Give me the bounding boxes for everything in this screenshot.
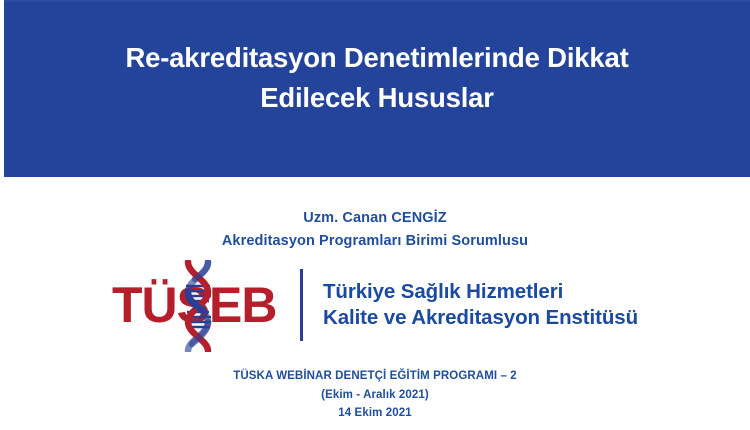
presenter-name: Uzm. Canan CENGİZ [0, 207, 750, 230]
footer-block: TÜSKA WEBİNAR DENETÇİ EĞİTİM PROGRAMI – … [0, 367, 750, 423]
tuseb-logo: TÜSEB [0, 262, 750, 348]
institute-name-line-2: Kalite ve Akreditasyon Enstitüsü [323, 305, 638, 331]
logo-mark: TÜSEB [112, 262, 284, 348]
presenter-block: Uzm. Canan CENGİZ Akreditasyon Programla… [0, 207, 750, 253]
presenter-role: Akreditasyon Programları Birimi Sorumlus… [0, 230, 750, 253]
logo-divider [300, 269, 303, 341]
dna-helix-icon [174, 260, 222, 352]
institute-name: Türkiye Sağlık Hizmetleri Kalite ve Akre… [323, 279, 638, 331]
slide-body: Uzm. Canan CENGİZ Akreditasyon Programla… [0, 177, 750, 430]
title-banner: Re-akreditasyon Denetimlerinde Dikkat Ed… [4, 0, 750, 177]
institute-name-line-1: Türkiye Sağlık Hizmetleri [323, 279, 638, 305]
footer-program: TÜSKA WEBİNAR DENETÇİ EĞİTİM PROGRAMI – … [0, 367, 750, 386]
footer-date: 14 Ekim 2021 [0, 404, 750, 423]
presentation-slide: Re-akreditasyon Denetimlerinde Dikkat Ed… [0, 0, 750, 430]
page-title: Re-akreditasyon Denetimlerinde Dikkat Ed… [57, 38, 697, 118]
footer-period: (Ekim - Aralık 2021) [0, 386, 750, 405]
